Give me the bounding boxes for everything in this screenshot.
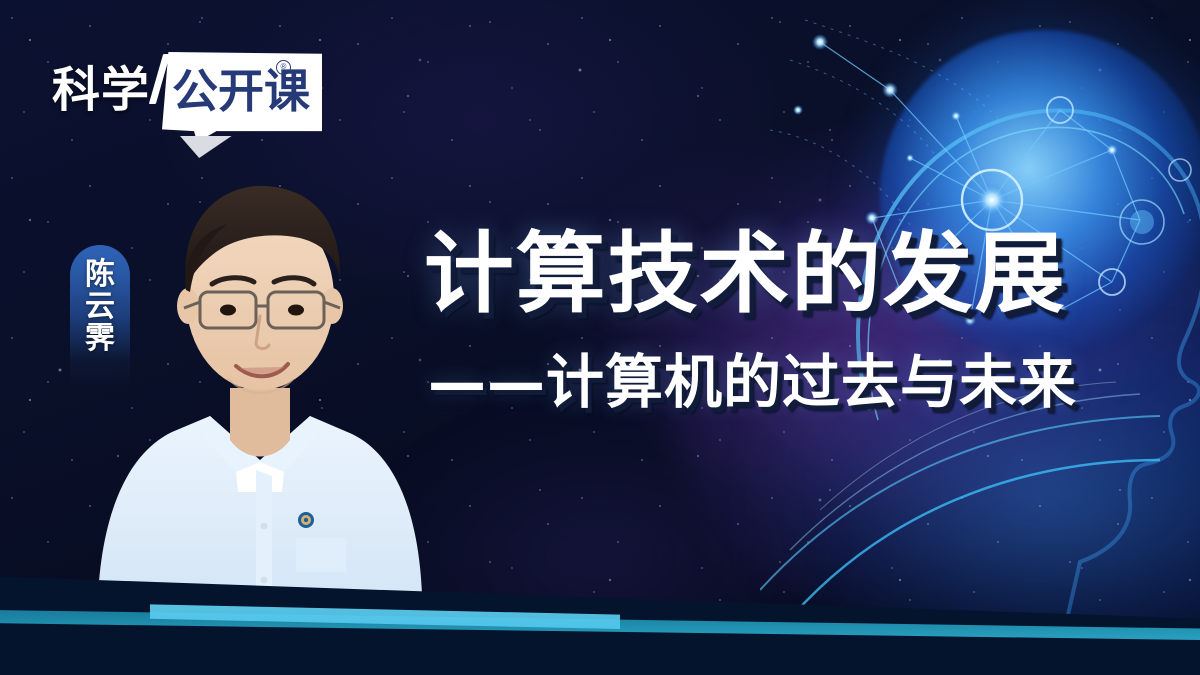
logo-bubble-tail [180,136,240,158]
program-logo: 科学 公开课 ® [52,52,322,157]
trademark-icon: ® [276,60,291,75]
brain-network-svg [760,0,1200,650]
speaker-name-char-3: 霁 [85,323,115,355]
logo-text-gongkaike: 公开课 [172,68,310,114]
main-title: 计算技术的发展 [424,228,1179,320]
bottom-band-edge [0,565,1200,675]
speaker-name-char-2: 云 [85,291,115,323]
logo-text-kexue: 科学 [52,66,150,114]
speaker-name-badge: 陈 云 霁 [70,245,130,387]
speaker-name-char-1: 陈 [85,259,115,291]
subtitle: ——计算机的过去与未来 [428,352,1188,413]
ai-brain-graphic [760,0,1200,650]
poster-canvas: 科学 公开课 ® 陈 云 霁 计算技术的发展 ——计算机的过去与未来 [0,0,1200,675]
